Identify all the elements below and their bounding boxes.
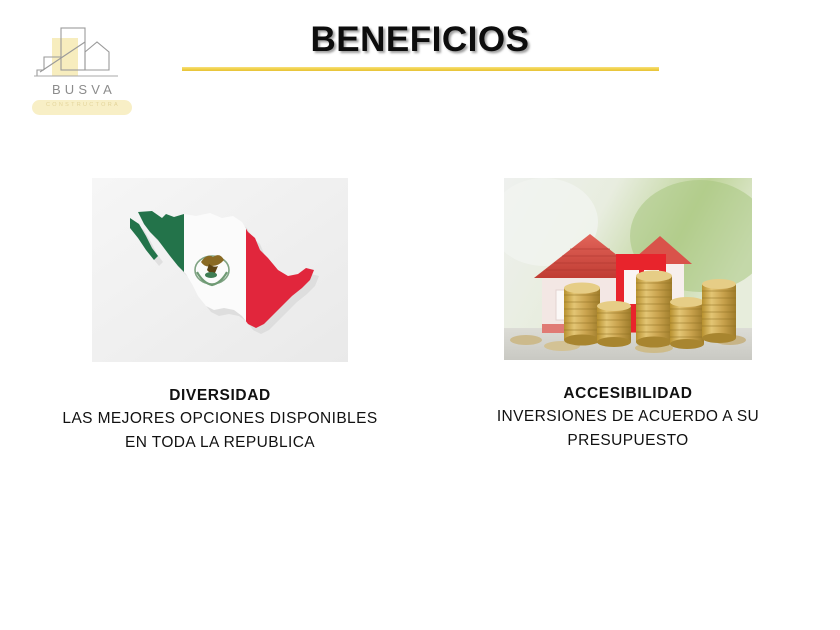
- benefit-description-line-1: LAS MEJORES OPCIONES DISPONIBLES: [14, 407, 426, 431]
- title-underline-rule: [182, 67, 659, 71]
- benefit-card-accesibilidad: ACCESIBILIDAD INVERSIONES DE ACUERDO A S…: [430, 178, 826, 454]
- page-title: BENEFICIOS: [0, 20, 840, 60]
- benefit-caption-accesibilidad: ACCESIBILIDAD INVERSIONES DE ACUERDO A S…: [430, 383, 826, 454]
- benefit-caption-diversidad: DIVERSIDAD LAS MEJORES OPCIONES DISPONIB…: [14, 385, 426, 456]
- mexico-map-graphic: [92, 178, 348, 362]
- benefit-card-diversidad: DIVERSIDAD LAS MEJORES OPCIONES DISPONIB…: [14, 178, 426, 456]
- mexico-map-flag-image: [92, 178, 348, 362]
- house-coins-graphic: [504, 178, 752, 360]
- slide-canvas: BUSVA CONSTRUCTORA BENEFICIOS: [0, 0, 840, 630]
- house-with-coin-stacks-image: [504, 178, 752, 360]
- benefit-heading: ACCESIBILIDAD: [430, 383, 826, 405]
- logo-subtitle: CONSTRUCTORA: [32, 102, 132, 108]
- benefit-description-line-2: PRESUPUESTO: [430, 429, 826, 453]
- benefit-description-line-1: INVERSIONES DE ACUERDO A SU: [430, 405, 826, 429]
- benefit-description-line-2: EN TODA LA REPUBLICA: [14, 431, 426, 455]
- benefit-heading: DIVERSIDAD: [14, 385, 426, 407]
- logo-subtitle-pill: CONSTRUCTORA: [32, 100, 132, 115]
- logo-wordmark: BUSVA: [26, 82, 138, 97]
